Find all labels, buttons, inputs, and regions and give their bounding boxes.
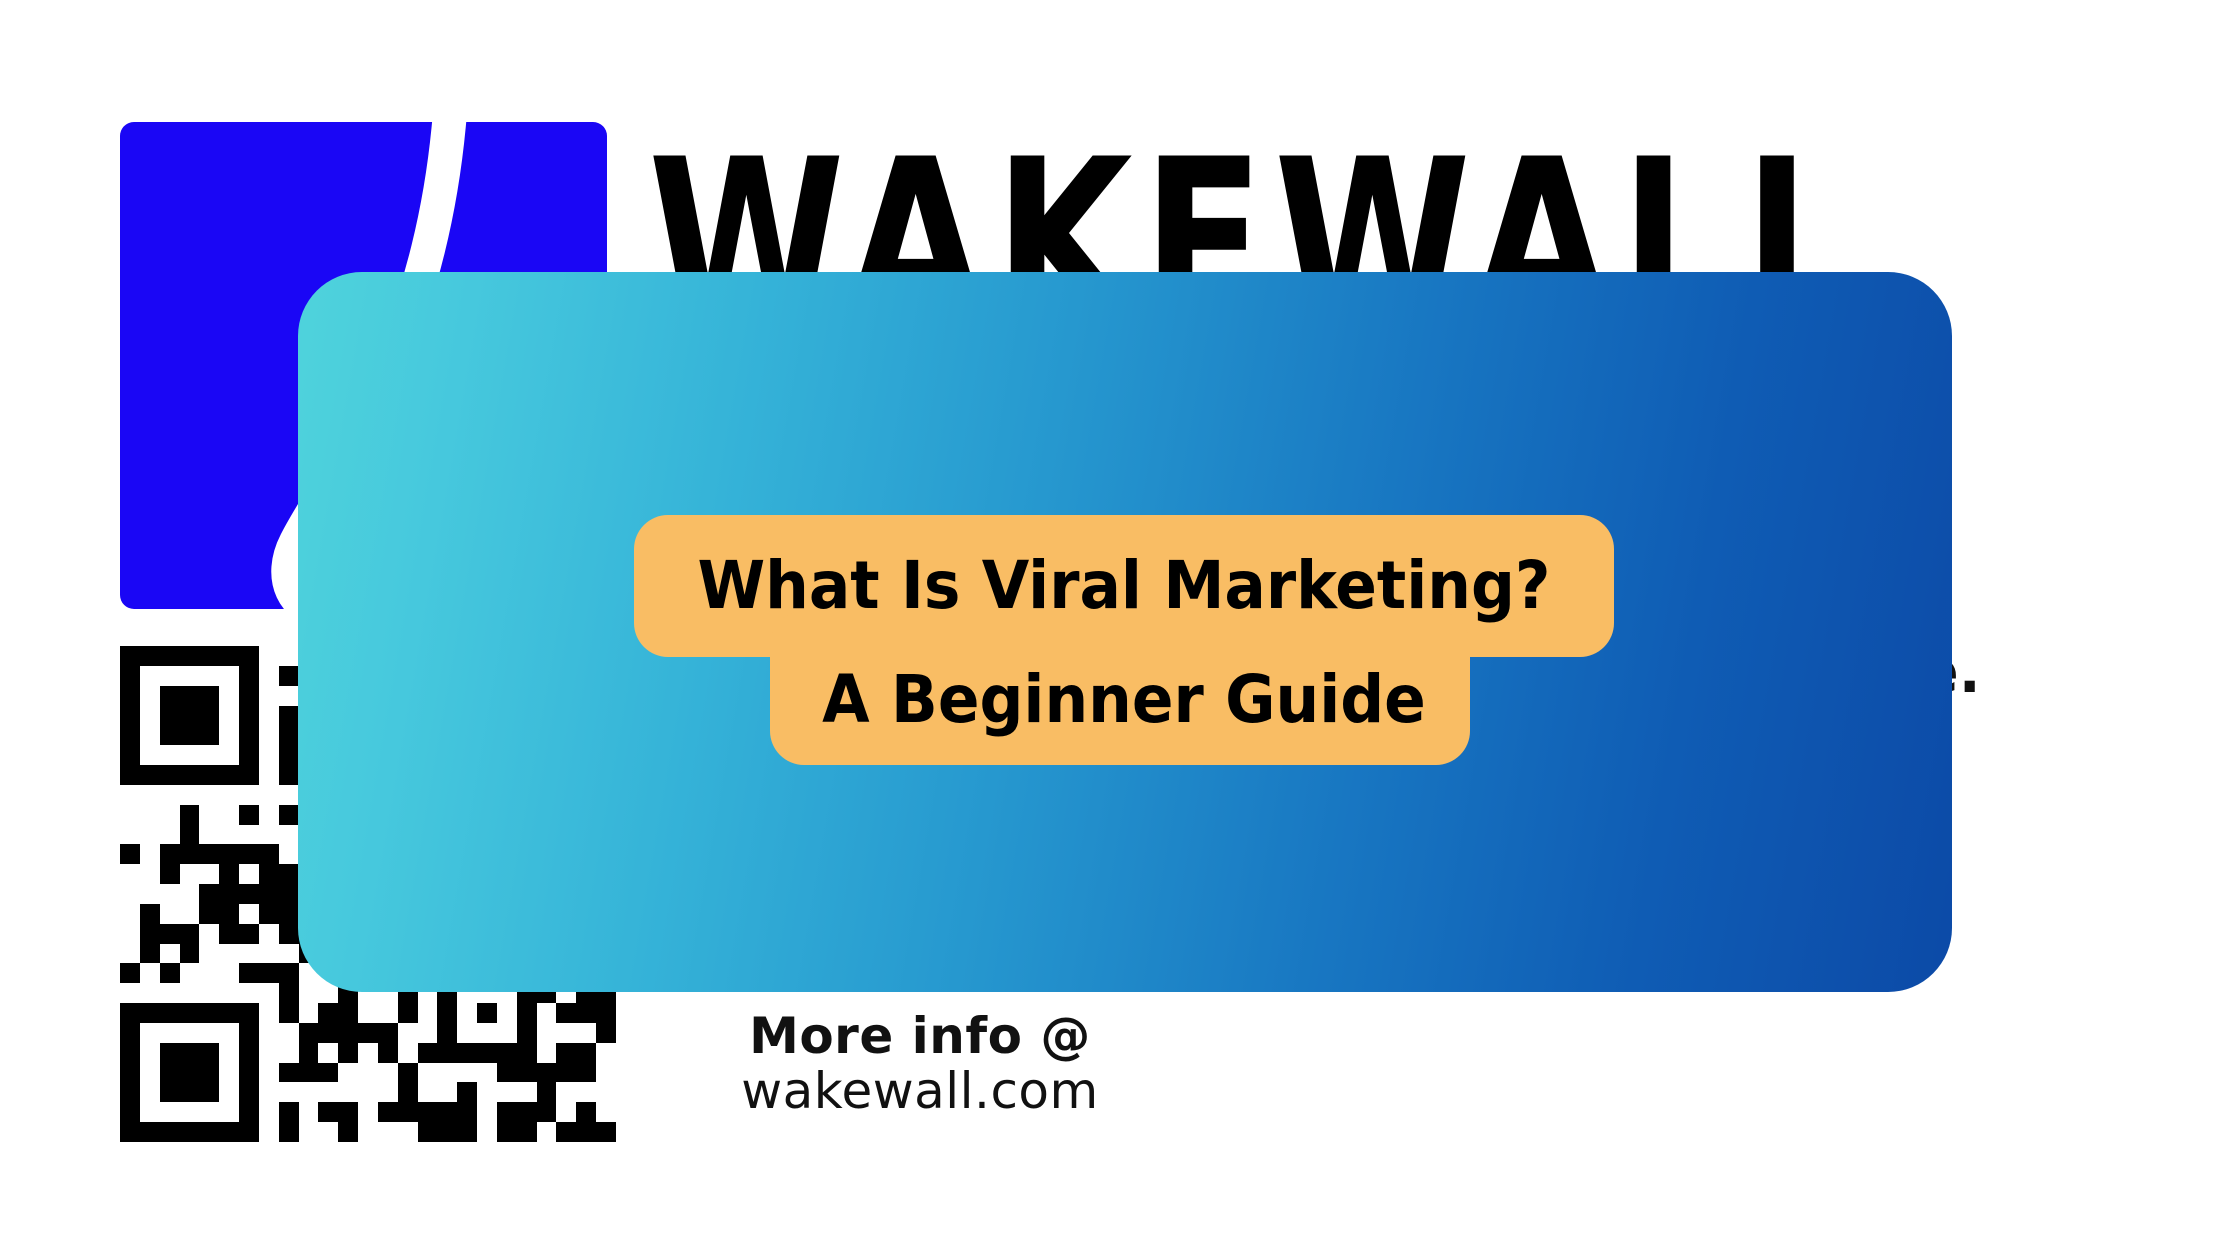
qr-module [437, 1102, 457, 1122]
qr-module [199, 1102, 219, 1122]
qr-module [140, 805, 160, 825]
qr-module [199, 944, 219, 964]
qr-module [259, 706, 279, 726]
qr-module [279, 1023, 299, 1043]
qr-module [299, 1063, 319, 1083]
qr-module [160, 1063, 180, 1083]
qr-module [180, 825, 200, 845]
qr-module [259, 686, 279, 706]
qr-module [497, 1082, 517, 1102]
qr-module [120, 785, 140, 805]
qr-module [358, 1023, 378, 1043]
qr-module [180, 805, 200, 825]
qr-module [199, 864, 219, 884]
qr-module [259, 1122, 279, 1142]
qr-module [279, 825, 299, 845]
qr-module [219, 1122, 239, 1142]
qr-module [219, 1063, 239, 1083]
qr-module [120, 765, 140, 785]
qr-module [120, 706, 140, 726]
qr-module [180, 864, 200, 884]
qr-module [140, 904, 160, 924]
qr-module [160, 904, 180, 924]
qr-module [239, 844, 259, 864]
qr-module [259, 1063, 279, 1083]
qr-module [418, 1102, 438, 1122]
qr-module [358, 1063, 378, 1083]
qr-module [199, 1063, 219, 1083]
qr-module [140, 745, 160, 765]
qr-module [279, 765, 299, 785]
qr-module [219, 904, 239, 924]
qr-module [180, 1063, 200, 1083]
qr-module [219, 805, 239, 825]
qr-module [160, 983, 180, 1003]
qr-module [180, 924, 200, 944]
qr-module [378, 1122, 398, 1142]
qr-module [219, 686, 239, 706]
qr-module [160, 745, 180, 765]
qr-module [338, 1003, 358, 1023]
qr-module [537, 1102, 557, 1122]
more-info-url[interactable]: wakewall.com [700, 1063, 1140, 1120]
qr-module [199, 725, 219, 745]
qr-module [318, 1043, 338, 1063]
qr-module [576, 1102, 596, 1122]
qr-module [259, 904, 279, 924]
qr-module [199, 1122, 219, 1142]
qr-module [338, 1102, 358, 1122]
qr-module [239, 765, 259, 785]
qr-module [517, 1003, 537, 1023]
qr-module [120, 844, 140, 864]
qr-module [180, 1003, 200, 1023]
qr-module [477, 1102, 497, 1122]
qr-module [120, 1003, 140, 1023]
qr-module [199, 745, 219, 765]
qr-module [239, 646, 259, 666]
qr-module [398, 1043, 418, 1063]
qr-module [180, 646, 200, 666]
qr-module [219, 646, 239, 666]
qr-module [219, 864, 239, 884]
qr-module [120, 666, 140, 686]
qr-module [299, 1122, 319, 1142]
qr-module [199, 963, 219, 983]
qr-module [497, 1003, 517, 1023]
qr-module [596, 1003, 616, 1023]
qr-module [279, 1102, 299, 1122]
qr-module [259, 884, 279, 904]
qr-module [160, 805, 180, 825]
qr-module [219, 745, 239, 765]
qr-module [537, 1122, 557, 1142]
qr-module [180, 1023, 200, 1043]
qr-module [398, 1082, 418, 1102]
qr-module [279, 805, 299, 825]
qr-module [259, 745, 279, 765]
qr-module [398, 1063, 418, 1083]
qr-module [556, 1063, 576, 1083]
qr-module [219, 983, 239, 1003]
qr-module [199, 1043, 219, 1063]
qr-module [556, 1102, 576, 1122]
qr-module [180, 686, 200, 706]
qr-module [120, 825, 140, 845]
qr-module [358, 1102, 378, 1122]
article-title-plate: What Is Viral Marketing? A Beginner Guid… [634, 515, 1614, 765]
qr-module [199, 983, 219, 1003]
qr-module [259, 725, 279, 745]
qr-module [279, 864, 299, 884]
qr-module [140, 884, 160, 904]
qr-module [497, 1122, 517, 1142]
qr-module [180, 706, 200, 726]
qr-module [279, 646, 299, 666]
qr-module [418, 1063, 438, 1083]
qr-module [140, 864, 160, 884]
qr-module [160, 884, 180, 904]
qr-module [279, 686, 299, 706]
qr-module [318, 1122, 338, 1142]
qr-module [457, 1102, 477, 1122]
qr-module [239, 904, 259, 924]
qr-module [318, 1082, 338, 1102]
qr-module [596, 1102, 616, 1122]
qr-module [338, 1122, 358, 1142]
qr-module [259, 825, 279, 845]
qr-module [180, 745, 200, 765]
qr-module [279, 706, 299, 726]
qr-module [398, 1003, 418, 1023]
qr-module [199, 706, 219, 726]
qr-module [160, 666, 180, 686]
qr-module [279, 1063, 299, 1083]
qr-module [596, 1043, 616, 1063]
qr-module [120, 1043, 140, 1063]
more-info-block: More info @ wakewall.com [700, 1010, 1140, 1120]
qr-module [259, 1082, 279, 1102]
qr-module [120, 725, 140, 745]
qr-module [219, 725, 239, 745]
qr-module [437, 1122, 457, 1142]
qr-module [120, 686, 140, 706]
qr-module [576, 1023, 596, 1043]
qr-module [259, 646, 279, 666]
qr-module [279, 844, 299, 864]
qr-module [318, 1003, 338, 1023]
qr-module [457, 1003, 477, 1023]
qr-module [318, 1102, 338, 1122]
qr-module [160, 1102, 180, 1122]
qr-module [537, 1063, 557, 1083]
qr-module [160, 963, 180, 983]
qr-module [418, 1023, 438, 1043]
qr-module [398, 1023, 418, 1043]
qr-module [259, 1102, 279, 1122]
qr-module [180, 666, 200, 686]
qr-module [259, 805, 279, 825]
qr-module [477, 1043, 497, 1063]
qr-module [160, 1122, 180, 1142]
qr-module [239, 785, 259, 805]
qr-module [180, 1122, 200, 1142]
qr-module [140, 844, 160, 864]
qr-module [239, 1102, 259, 1122]
qr-module [497, 1063, 517, 1083]
qr-module [437, 1003, 457, 1023]
qr-module [140, 825, 160, 845]
qr-module [239, 864, 259, 884]
qr-module [160, 924, 180, 944]
qr-module [517, 1043, 537, 1063]
qr-module [180, 983, 200, 1003]
qr-module [140, 686, 160, 706]
qr-module [140, 1102, 160, 1122]
qr-module [219, 844, 239, 864]
qr-module [120, 963, 140, 983]
qr-module [120, 646, 140, 666]
qr-module [299, 1003, 319, 1023]
qr-module [199, 666, 219, 686]
qr-module [160, 725, 180, 745]
qr-module [537, 1082, 557, 1102]
article-title-line-1: What Is Viral Marketing? [668, 553, 1579, 619]
qr-module [338, 1082, 358, 1102]
qr-module [259, 666, 279, 686]
qr-module [556, 1023, 576, 1043]
qr-module [517, 1063, 537, 1083]
qr-module [199, 646, 219, 666]
qr-module [537, 1023, 557, 1043]
qr-module [279, 904, 299, 924]
more-info-label: More info @ [700, 1010, 1140, 1063]
qr-module [437, 1023, 457, 1043]
qr-module [239, 706, 259, 726]
qr-module [576, 1082, 596, 1102]
qr-module [318, 1023, 338, 1043]
qr-module [576, 1122, 596, 1142]
qr-module [517, 1122, 537, 1142]
qr-module [120, 924, 140, 944]
qr-module [497, 1043, 517, 1063]
qr-module [537, 1003, 557, 1023]
qr-module [259, 963, 279, 983]
qr-module [299, 1043, 319, 1063]
qr-module [576, 1043, 596, 1063]
qr-module [199, 765, 219, 785]
qr-module [219, 1082, 239, 1102]
qr-module [180, 765, 200, 785]
qr-module [140, 646, 160, 666]
qr-module [120, 1063, 140, 1083]
qr-module [378, 1102, 398, 1122]
qr-module [120, 1082, 140, 1102]
qr-module [378, 1082, 398, 1102]
qr-module [259, 864, 279, 884]
qr-module [279, 944, 299, 964]
qr-module [477, 1063, 497, 1083]
qr-module [199, 785, 219, 805]
qr-module [259, 1043, 279, 1063]
qr-module [160, 785, 180, 805]
qr-module [437, 1063, 457, 1083]
qr-module [219, 1003, 239, 1023]
qr-module [160, 765, 180, 785]
qr-module [140, 725, 160, 745]
qr-module [398, 1122, 418, 1142]
qr-module [120, 745, 140, 765]
qr-module [259, 983, 279, 1003]
qr-module [160, 844, 180, 864]
qr-module [239, 983, 259, 1003]
qr-module [180, 844, 200, 864]
qr-module [418, 1043, 438, 1063]
qr-module [140, 666, 160, 686]
qr-module [239, 745, 259, 765]
qr-module [239, 725, 259, 745]
qr-module [219, 1043, 239, 1063]
qr-module [140, 706, 160, 726]
qr-module [180, 944, 200, 964]
qr-module [279, 1082, 299, 1102]
qr-module [517, 1082, 537, 1102]
qr-module [199, 825, 219, 845]
qr-module [279, 1043, 299, 1063]
qr-module [140, 1003, 160, 1023]
qr-module [219, 765, 239, 785]
qr-module [180, 904, 200, 924]
qr-module [457, 1122, 477, 1142]
qr-module [457, 1023, 477, 1043]
qr-module [378, 1003, 398, 1023]
qr-module [318, 1063, 338, 1083]
qr-module [299, 1082, 319, 1102]
qr-module [239, 884, 259, 904]
qr-module [279, 745, 299, 765]
qr-module [497, 1102, 517, 1122]
qr-module [299, 983, 319, 1003]
qr-module [120, 983, 140, 1003]
qr-module [259, 785, 279, 805]
qr-module [180, 963, 200, 983]
qr-module [596, 1122, 616, 1142]
qr-module [239, 944, 259, 964]
qr-module [556, 1043, 576, 1063]
qr-module [556, 1003, 576, 1023]
qr-module [180, 1102, 200, 1122]
qr-module [120, 864, 140, 884]
qr-module [219, 884, 239, 904]
qr-module [378, 1063, 398, 1083]
qr-module [120, 1122, 140, 1142]
qr-module [219, 944, 239, 964]
qr-module [140, 983, 160, 1003]
qr-module [120, 1102, 140, 1122]
qr-module [239, 686, 259, 706]
qr-module [239, 1043, 259, 1063]
qr-module [140, 1082, 160, 1102]
qr-module [596, 1063, 616, 1083]
qr-module [398, 1102, 418, 1122]
qr-module [140, 1043, 160, 1063]
qr-module [259, 765, 279, 785]
qr-module [259, 944, 279, 964]
qr-module [140, 1122, 160, 1142]
qr-module [140, 944, 160, 964]
qr-module [160, 1003, 180, 1023]
qr-module [239, 1063, 259, 1083]
qr-module [140, 1023, 160, 1043]
qr-module [477, 1082, 497, 1102]
qr-module [160, 686, 180, 706]
qr-module [160, 864, 180, 884]
qr-module [160, 825, 180, 845]
qr-module [378, 1023, 398, 1043]
qr-module [160, 1082, 180, 1102]
qr-module [219, 963, 239, 983]
qr-module [358, 1043, 378, 1063]
qr-module [239, 1003, 259, 1023]
qr-module [517, 1102, 537, 1122]
article-title-line-2: A Beginner Guide [668, 667, 1579, 733]
qr-module [219, 706, 239, 726]
qr-module [120, 944, 140, 964]
qr-module [477, 1122, 497, 1142]
qr-module [120, 1023, 140, 1043]
qr-module [180, 884, 200, 904]
qr-module [279, 963, 299, 983]
qr-module [517, 1023, 537, 1043]
qr-module [259, 924, 279, 944]
qr-module [596, 1082, 616, 1102]
qr-module [259, 1003, 279, 1023]
qr-module [160, 1023, 180, 1043]
qr-module [418, 1082, 438, 1102]
qr-module [239, 963, 259, 983]
qr-module [358, 1082, 378, 1102]
qr-module [279, 983, 299, 1003]
qr-module [140, 785, 160, 805]
qr-module [358, 1003, 378, 1023]
qr-module [219, 825, 239, 845]
qr-module [279, 884, 299, 904]
qr-module [299, 1023, 319, 1043]
qr-module [437, 1082, 457, 1102]
qr-module [556, 1082, 576, 1102]
qr-module [358, 1122, 378, 1142]
qr-module [199, 1003, 219, 1023]
qr-module [418, 1003, 438, 1023]
qr-module [180, 1082, 200, 1102]
qr-module [338, 1023, 358, 1043]
qr-module [338, 1063, 358, 1083]
qr-module [140, 924, 160, 944]
qr-module [576, 1003, 596, 1023]
qr-module [219, 924, 239, 944]
qr-module [239, 924, 259, 944]
qr-module [279, 1003, 299, 1023]
qr-module [477, 1023, 497, 1043]
qr-module [120, 884, 140, 904]
qr-module [576, 1063, 596, 1083]
qr-module [239, 825, 259, 845]
qr-module [120, 904, 140, 924]
qr-module [556, 1122, 576, 1142]
qr-module [457, 1082, 477, 1102]
qr-module [180, 1043, 200, 1063]
qr-module [279, 725, 299, 745]
